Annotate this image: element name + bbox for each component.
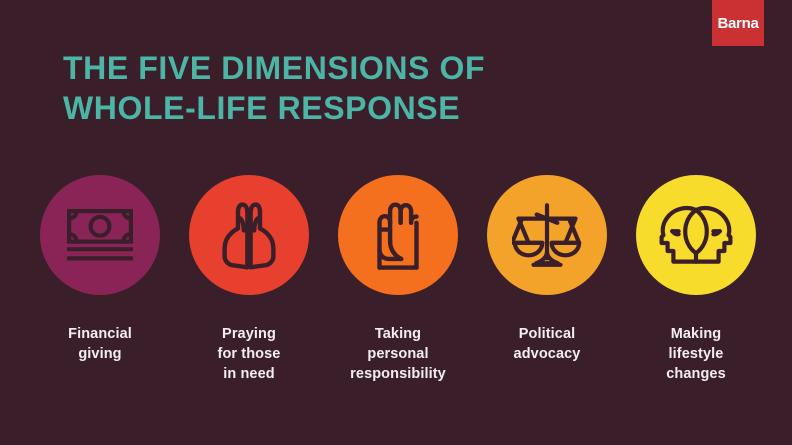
dimension-label-5: Making lifestyle changes xyxy=(666,324,726,384)
dimension-label-2-line-1: Praying xyxy=(218,324,281,344)
dimension-item-responsibility: Taking personal responsibility xyxy=(324,175,472,384)
dimension-label-2-line-3: in need xyxy=(218,364,281,384)
two-head-profiles-icon xyxy=(659,204,733,266)
dimension-item-financial-giving: Financial giving xyxy=(26,175,174,364)
banknote-icon xyxy=(67,209,133,261)
dimension-label-5-line-2: lifestyle xyxy=(666,344,726,364)
dimension-label-4-line-1: Political xyxy=(514,324,581,344)
dimension-label-4: Political advocacy xyxy=(514,324,581,364)
icon-circle-4 xyxy=(487,175,607,295)
barna-logo: Barna xyxy=(712,0,764,46)
dimension-label-4-line-2: advocacy xyxy=(514,344,581,364)
dimension-item-lifestyle: Making lifestyle changes xyxy=(622,175,770,384)
dimension-label-1-line-2: giving xyxy=(68,344,132,364)
icon-circle-5 xyxy=(636,175,756,295)
dimension-item-praying: Praying for those in need xyxy=(175,175,323,384)
dimension-label-5-line-1: Making xyxy=(666,324,726,344)
dimension-label-3: Taking personal responsibility xyxy=(350,324,446,384)
dimension-label-1: Financial giving xyxy=(68,324,132,364)
dimension-label-2: Praying for those in need xyxy=(218,324,281,384)
dimensions-row: Financial giving Praying for those xyxy=(26,175,770,384)
dimension-label-3-line-1: Taking xyxy=(350,324,446,344)
icon-circle-1 xyxy=(40,175,160,295)
balance-scales-icon xyxy=(512,202,582,268)
praying-hands-icon xyxy=(221,200,277,270)
barna-logo-text: Barna xyxy=(717,15,758,32)
dimension-label-3-line-3: responsibility xyxy=(350,364,446,384)
page-title-line-1: THE FIVE DIMENSIONS OF xyxy=(63,49,683,89)
dimension-label-5-line-3: changes xyxy=(666,364,726,384)
icon-circle-3 xyxy=(338,175,458,295)
dimension-label-1-line-1: Financial xyxy=(68,324,132,344)
dimension-label-2-line-2: for those xyxy=(218,344,281,364)
dimension-item-advocacy: Political advocacy xyxy=(473,175,621,364)
page-title: THE FIVE DIMENSIONS OF WHOLE-LIFE RESPON… xyxy=(63,49,683,128)
page-title-line-2: WHOLE-LIFE RESPONSE xyxy=(63,89,683,129)
dimension-label-3-line-2: personal xyxy=(350,344,446,364)
icon-circle-2 xyxy=(189,175,309,295)
slide-canvas: Barna THE FIVE DIMENSIONS OF WHOLE-LIFE … xyxy=(0,0,792,445)
raised-hand-icon xyxy=(371,200,425,270)
